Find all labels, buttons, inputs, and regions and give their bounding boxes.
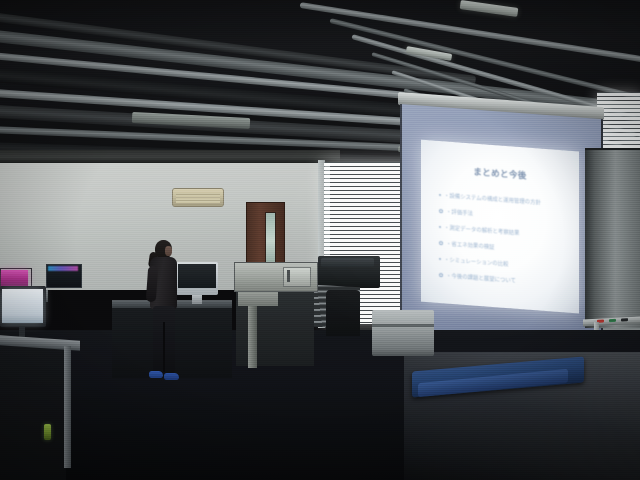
imac-screen <box>178 264 216 288</box>
slide-bullet-1: ・設備システムの構成と運用管理の方針 <box>439 191 569 209</box>
slide-title: まとめと今後 <box>421 162 579 186</box>
marker-black[interactable] <box>621 318 628 321</box>
slide-bullet-text: ・設備システムの構成と運用管理の方針 <box>444 191 541 206</box>
instrument-slot <box>287 270 290 282</box>
equipment-front-panel <box>238 290 278 306</box>
plotter[interactable] <box>372 310 434 356</box>
monitor-white[interactable] <box>2 289 43 323</box>
person-shoe-right <box>164 373 179 380</box>
person <box>143 240 183 385</box>
equipment-cart-post <box>248 306 257 368</box>
person-shoe-left <box>149 371 163 378</box>
wall-ceiling-beam <box>0 150 340 163</box>
room-photo: まとめと今後 ・設備システムの構成と運用管理の方針・評価手法・測定データの解析と… <box>0 0 640 480</box>
projected-slide: まとめと今後 ・設備システムの構成と運用管理の方針・評価手法・測定データの解析と… <box>421 140 579 314</box>
bullet-dot-hollow-icon <box>439 209 443 213</box>
slide-bullet-list: ・設備システムの構成と運用管理の方針・評価手法・測定データの解析と考察結果・省エ… <box>439 191 569 297</box>
bullet-dot-hollow-icon <box>439 241 443 245</box>
marker-green[interactable] <box>609 319 616 322</box>
slide-bullet-4: ・省エネ効果の検証 <box>439 239 569 257</box>
slide-bullet-5: ・シミュレーションの比較 <box>439 255 569 273</box>
slide-bullet-6: ・今後の課題と展望について <box>439 271 569 289</box>
green-bottle <box>44 424 51 440</box>
air-conditioner-icon <box>172 188 224 207</box>
laser-printer[interactable] <box>318 256 380 288</box>
bullet-dot-icon <box>439 194 441 196</box>
printer-lid <box>321 258 374 267</box>
bullet-dot-hollow-icon <box>439 273 443 277</box>
plotter-seam <box>372 324 434 327</box>
office-chair[interactable] <box>326 290 360 336</box>
imac-stand <box>192 295 202 304</box>
aircon-slats <box>176 194 220 203</box>
slide-bullet-3: ・測定データの解析と考察結果 <box>439 223 569 241</box>
slide-bullet-text: ・評価手法 <box>446 207 473 217</box>
person-face <box>165 246 172 256</box>
monitor-glow-strip <box>48 266 78 271</box>
slide-bullet-text: ・省エネ効果の検証 <box>446 239 495 251</box>
slide-bullet-2: ・評価手法 <box>439 207 569 225</box>
left-desk-body <box>0 346 66 480</box>
left-desk-leg <box>64 346 71 468</box>
ceiling-light-2 <box>460 0 519 17</box>
slide-bullet-text: ・測定データの解析と考察結果 <box>444 223 519 237</box>
measurement-instrument[interactable] <box>234 262 318 292</box>
monitor-white-stand <box>19 327 25 337</box>
slide-bullet-text: ・シミュレーションの比較 <box>444 255 508 268</box>
person-leg-gap <box>163 322 165 372</box>
whiteboard[interactable] <box>585 148 640 328</box>
bullet-dot-icon <box>439 226 441 228</box>
bullet-dot-icon <box>439 258 441 260</box>
slide-bullet-text: ・今後の課題と展望について <box>446 271 516 284</box>
monitor-magenta[interactable] <box>1 270 28 287</box>
